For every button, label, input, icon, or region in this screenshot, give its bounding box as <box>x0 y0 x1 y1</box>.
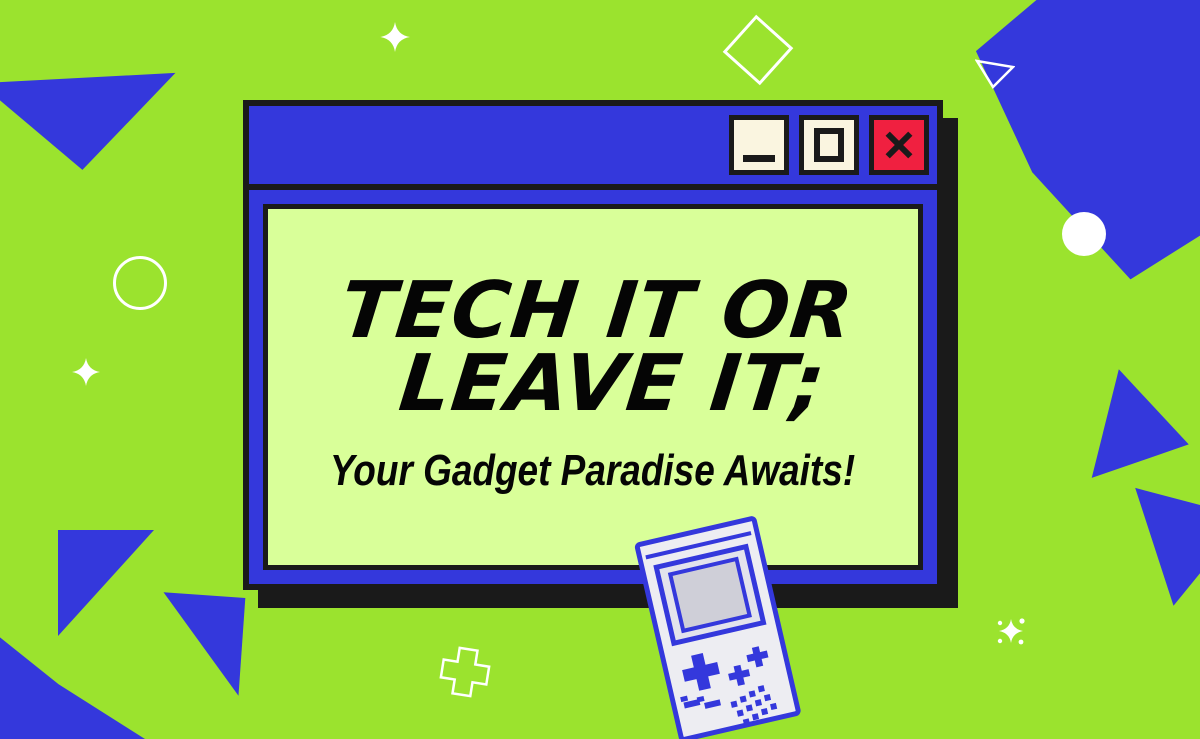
headline-line-1: TECH IT OR <box>337 278 856 345</box>
plus-outline-bottom-icon <box>436 643 494 701</box>
window-titlebar <box>249 106 937 190</box>
circle-outline-left-icon <box>113 256 167 310</box>
sparkle-top-left-icon <box>380 22 410 52</box>
window-content-area: TECH IT OR LEAVE IT; Your Gadget Paradis… <box>263 204 923 570</box>
close-icon <box>883 129 915 161</box>
maximize-icon <box>814 128 844 162</box>
maximize-button[interactable] <box>799 115 859 175</box>
minimize-icon <box>743 155 775 162</box>
page-title: TECH IT OR LEAVE IT; <box>329 278 856 418</box>
minimize-button[interactable] <box>729 115 789 175</box>
triangle-top-left-icon <box>0 73 180 175</box>
poster-canvas: TECH IT OR LEAVE IT; Your Gadget Paradis… <box>0 0 1200 739</box>
triangle-bottom-left-a-icon <box>58 530 154 636</box>
retro-window: TECH IT OR LEAVE IT; Your Gadget Paradis… <box>243 100 943 590</box>
close-button[interactable] <box>869 115 929 175</box>
headline-line-2: LEAVE IT; <box>329 351 848 418</box>
sparkle-left-icon <box>72 358 100 386</box>
page-subtitle: Your Gadget Paradise Awaits! <box>330 446 855 496</box>
diamond-outline-top-icon <box>723 15 794 86</box>
circle-solid-right-icon <box>1062 212 1106 256</box>
triangle-bottom-left-b-icon <box>157 592 246 695</box>
sparkle-right-icon <box>994 614 1028 648</box>
triangle-outline-top-right-icon <box>975 57 1015 89</box>
